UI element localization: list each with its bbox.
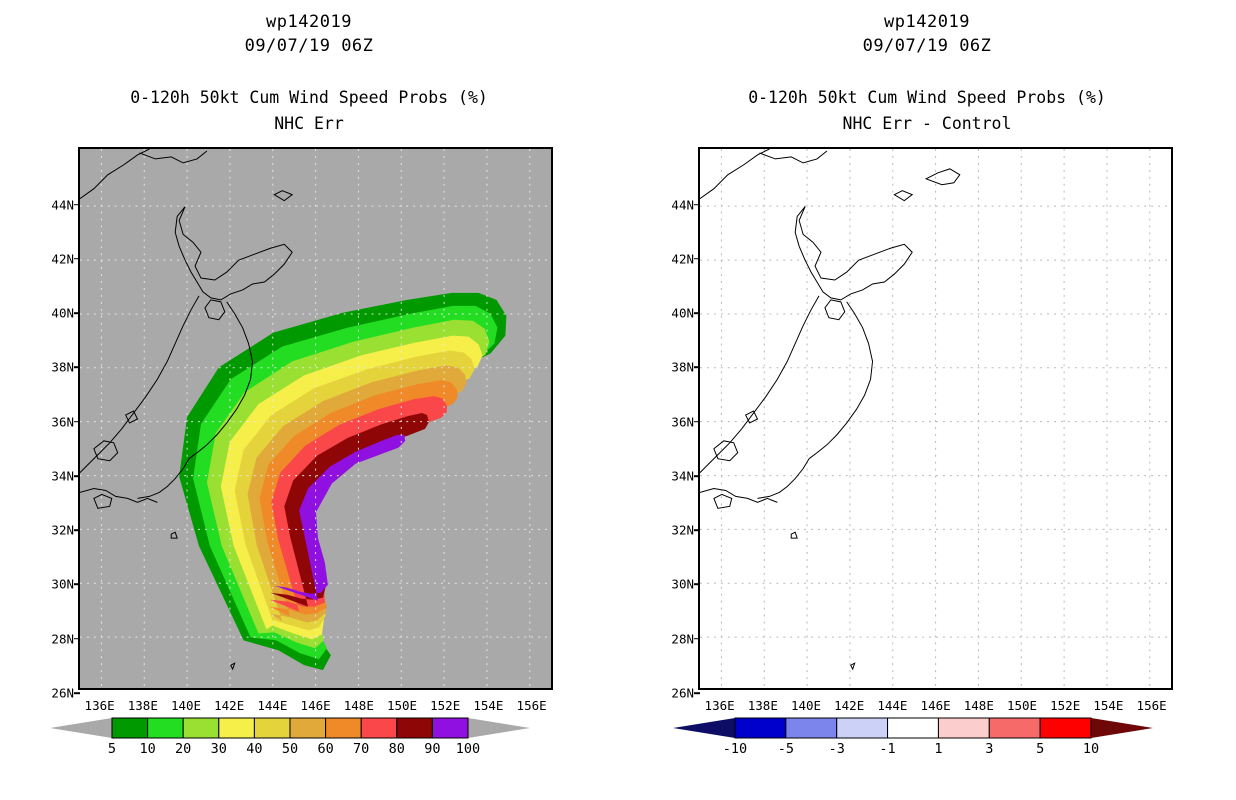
left-storm-id: wp142019 bbox=[0, 12, 618, 32]
left-main-title: 0-120h 50kt Cum Wind Speed Probs (%) bbox=[0, 88, 618, 107]
y-tick-label: 28N bbox=[671, 631, 694, 646]
colorbar-tick-label: 100 bbox=[456, 741, 480, 757]
y-tick-label: 26N bbox=[671, 686, 694, 701]
right-y-axis: 44N42N40N38N36N34N32N30N28N26N bbox=[658, 147, 694, 690]
coast-kuril-small bbox=[274, 191, 292, 201]
x-tick-label: 150E bbox=[1007, 698, 1037, 713]
y-tick-label: 34N bbox=[51, 468, 74, 483]
x-tick-label: 136E bbox=[85, 698, 115, 713]
coast-hokkaido bbox=[795, 207, 912, 300]
colorbar-under-arrow bbox=[673, 718, 735, 738]
colorbar-tick-label: 60 bbox=[317, 741, 333, 757]
x-tick-label: 142E bbox=[834, 698, 864, 713]
coast-tohoku-inner bbox=[825, 300, 845, 320]
colorbar-tick-label: 5 bbox=[1036, 741, 1044, 757]
left-sub-title: NHC Err bbox=[0, 114, 618, 133]
coast-hokkaido-north bbox=[759, 151, 826, 163]
colorbar-cell bbox=[326, 718, 362, 738]
colorbar-cell bbox=[837, 718, 888, 738]
colorbar-tick-label: 30 bbox=[211, 741, 227, 757]
colorbar-tick-label: 5 bbox=[108, 741, 116, 757]
y-tick-label: 28N bbox=[51, 631, 74, 646]
y-tick-label: 32N bbox=[671, 523, 694, 538]
colorbar-swatches bbox=[673, 714, 1153, 744]
colorbar-tick-label: 20 bbox=[175, 741, 191, 757]
coast-kuril-chain bbox=[926, 169, 960, 185]
coast-kuril-small bbox=[894, 191, 912, 201]
y-tick-label: 26N bbox=[51, 686, 74, 701]
coast-shikoku bbox=[94, 494, 112, 508]
left-colorbar: 5102030405060708090100 bbox=[50, 714, 530, 760]
wind-speed-probability-figure: wp142019 09/07/19 06Z 0-120h 50kt Cum Wi… bbox=[0, 0, 1236, 800]
x-tick-label: 140E bbox=[791, 698, 821, 713]
colorbar-cell bbox=[735, 718, 786, 738]
y-tick-label: 30N bbox=[51, 577, 74, 592]
coast-hokkaido-north bbox=[139, 151, 206, 163]
left-y-axis: 44N42N40N38N36N34N32N30N28N26N bbox=[38, 147, 74, 690]
coast-noto bbox=[94, 441, 118, 461]
coast-hokkaido bbox=[175, 207, 292, 300]
y-tick-label: 44N bbox=[51, 197, 74, 212]
colorbar-cell bbox=[219, 718, 255, 738]
colorbar-tick-label: -1 bbox=[879, 741, 895, 757]
x-tick-label: 138E bbox=[748, 698, 778, 713]
x-tick-label: 154E bbox=[1093, 698, 1123, 713]
coast-tohoku-inner bbox=[205, 300, 225, 320]
y-tick-label: 40N bbox=[671, 306, 694, 321]
y-tick-label: 34N bbox=[671, 468, 694, 483]
panel-nhc-err: wp142019 09/07/19 06Z 0-120h 50kt Cum Wi… bbox=[0, 0, 618, 800]
coast-bonin bbox=[851, 663, 855, 669]
colorbar-cell bbox=[148, 718, 184, 738]
coast-honshu-east bbox=[809, 302, 872, 459]
x-tick-label: 144E bbox=[877, 698, 907, 713]
left-map-plot bbox=[78, 147, 553, 690]
right-sub-title: NHC Err - Control bbox=[618, 114, 1236, 133]
x-tick-label: 148E bbox=[964, 698, 994, 713]
y-tick-label: 30N bbox=[671, 577, 694, 592]
colorbar-cell bbox=[786, 718, 837, 738]
y-tick-label: 44N bbox=[671, 197, 694, 212]
x-tick-label: 138E bbox=[128, 698, 158, 713]
gridlines bbox=[700, 149, 1171, 688]
y-tick-label: 36N bbox=[671, 414, 694, 429]
colorbar-cell bbox=[183, 718, 219, 738]
colorbar-tick-label: 10 bbox=[139, 741, 155, 757]
colorbar-tick-label: 10 bbox=[1083, 741, 1099, 757]
coast-kyushu-shikoku bbox=[700, 488, 777, 502]
colorbar-swatches bbox=[50, 714, 530, 744]
colorbar-cell bbox=[112, 718, 148, 738]
right-map-svg bbox=[700, 149, 1171, 688]
colorbar-tick-label: 1 bbox=[934, 741, 942, 757]
colorbar-cell bbox=[361, 718, 397, 738]
coast-sakhalin-asia bbox=[700, 149, 769, 199]
colorbar-tick-label: 80 bbox=[389, 741, 405, 757]
colorbar-over-arrow bbox=[468, 718, 530, 738]
left-map-svg bbox=[80, 149, 551, 688]
colorbar-tick-label: 40 bbox=[246, 741, 262, 757]
right-x-axis: 136E138E140E142E144E146E148E150E152E154E… bbox=[698, 694, 1173, 714]
y-tick-label: 38N bbox=[51, 360, 74, 375]
colorbar-tick-label: 50 bbox=[282, 741, 298, 757]
left-x-axis: 136E138E140E142E144E146E148E150E152E154E… bbox=[78, 694, 553, 714]
panel-nhc-err-control: wp142019 09/07/19 06Z 0-120h 50kt Cum Wi… bbox=[618, 0, 1236, 800]
coastlines bbox=[700, 149, 960, 669]
colorbar-tick-label: 3 bbox=[985, 741, 993, 757]
coast-izu bbox=[791, 532, 797, 538]
x-tick-label: 144E bbox=[257, 698, 287, 713]
x-tick-label: 150E bbox=[387, 698, 417, 713]
x-tick-label: 146E bbox=[301, 698, 331, 713]
x-tick-label: 146E bbox=[921, 698, 951, 713]
colorbar-cell bbox=[432, 718, 468, 738]
x-tick-label: 142E bbox=[214, 698, 244, 713]
x-tick-label: 156E bbox=[517, 698, 547, 713]
x-tick-label: 156E bbox=[1137, 698, 1167, 713]
coast-bonin bbox=[231, 663, 235, 669]
colorbar-cell bbox=[397, 718, 433, 738]
colorbar-cell bbox=[938, 718, 989, 738]
right-colorbar: -10-5-3-113510 bbox=[673, 714, 1153, 760]
colorbar-under-arrow bbox=[50, 718, 112, 738]
coast-shikoku bbox=[714, 494, 732, 508]
right-storm-id: wp142019 bbox=[618, 12, 1236, 32]
y-tick-label: 42N bbox=[51, 251, 74, 266]
right-map-plot bbox=[698, 147, 1173, 690]
coast-izu bbox=[171, 532, 177, 538]
x-tick-label: 148E bbox=[344, 698, 374, 713]
y-tick-label: 42N bbox=[671, 251, 694, 266]
contour-bands bbox=[179, 293, 506, 670]
right-datetime: 09/07/19 06Z bbox=[618, 36, 1236, 56]
colorbar-cell bbox=[254, 718, 290, 738]
coast-noto bbox=[714, 441, 738, 461]
x-tick-label: 154E bbox=[473, 698, 503, 713]
colorbar-cell bbox=[290, 718, 326, 738]
x-tick-label: 136E bbox=[705, 698, 735, 713]
colorbar-tick-label: 70 bbox=[353, 741, 369, 757]
colorbar-cell bbox=[888, 718, 939, 738]
right-main-title: 0-120h 50kt Cum Wind Speed Probs (%) bbox=[618, 88, 1236, 107]
x-tick-label: 152E bbox=[430, 698, 460, 713]
colorbar-cell bbox=[989, 718, 1040, 738]
colorbar-tick-label: -10 bbox=[723, 741, 747, 757]
y-tick-label: 38N bbox=[671, 360, 694, 375]
x-tick-label: 152E bbox=[1050, 698, 1080, 713]
colorbar-tick-label: -5 bbox=[778, 741, 794, 757]
coast-kyushu-shikoku bbox=[80, 488, 157, 502]
colorbar-cell bbox=[1040, 718, 1091, 738]
colorbar-tick-label: -3 bbox=[829, 741, 845, 757]
colorbar-over-arrow bbox=[1091, 718, 1153, 738]
x-tick-label: 140E bbox=[171, 698, 201, 713]
y-tick-label: 40N bbox=[51, 306, 74, 321]
coast-honshu-tip bbox=[758, 459, 810, 499]
y-tick-label: 36N bbox=[51, 414, 74, 429]
left-datetime: 09/07/19 06Z bbox=[0, 36, 618, 56]
y-tick-label: 32N bbox=[51, 523, 74, 538]
colorbar-tick-label: 90 bbox=[424, 741, 440, 757]
coast-sakhalin-asia bbox=[80, 149, 149, 199]
